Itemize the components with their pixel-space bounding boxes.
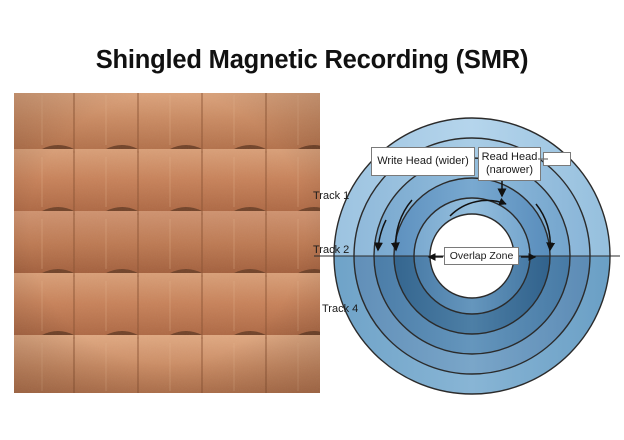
overlap-zone-arrows <box>425 248 540 266</box>
slide-canvas: Shingled Magnetic Recording (SMR) <box>0 0 624 440</box>
read-head-callout: Read Head (narower) <box>478 147 541 181</box>
page-title: Shingled Magnetic Recording (SMR) <box>0 46 624 75</box>
label-track-4: Track 4 <box>322 303 358 315</box>
read-head-label-line2: (narower) <box>486 164 533 177</box>
read-head-label-line1: Read Head <box>482 151 538 164</box>
label-track-1: Track 1 <box>313 190 349 202</box>
roof-tiles-photo <box>14 93 320 393</box>
label-track-2: Track 2 <box>313 244 349 256</box>
read-head-connector <box>538 155 548 165</box>
write-head-callout: Write Head (wider) <box>371 147 475 176</box>
write-head-label: Write Head (wider) <box>377 155 469 168</box>
